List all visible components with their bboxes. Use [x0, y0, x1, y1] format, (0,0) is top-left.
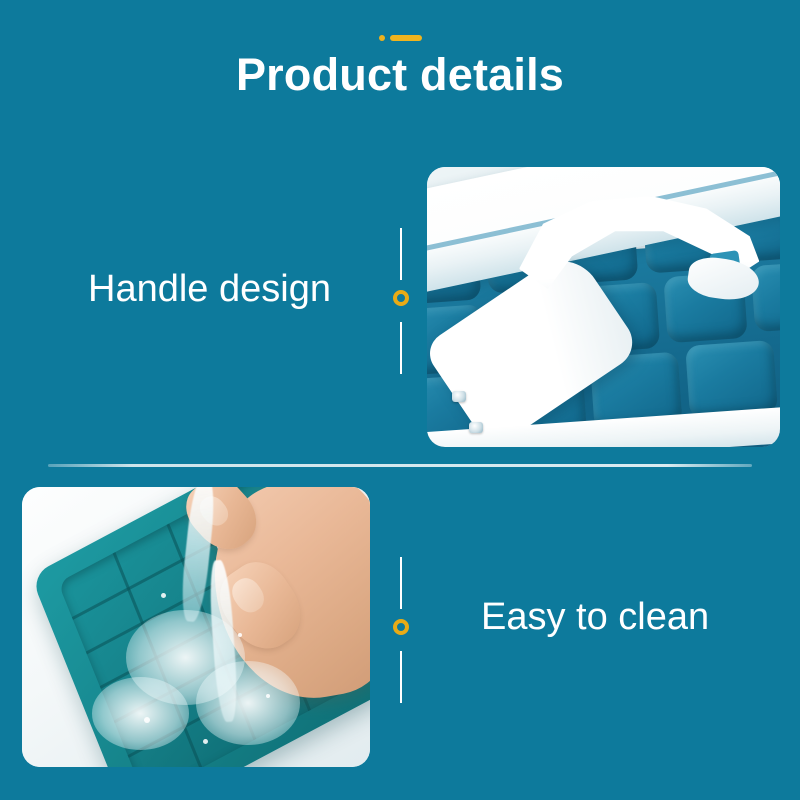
connector-line-upper	[400, 557, 402, 609]
photo-easy-to-clean-content	[22, 487, 370, 767]
page-title: Product details	[0, 46, 800, 104]
photo-handle-design-content	[427, 167, 780, 447]
feature-label-handle-design: Handle design	[88, 266, 331, 312]
handle-hinge-screw	[452, 391, 466, 402]
title-decoration	[0, 32, 800, 44]
connector-line-lower	[400, 651, 402, 703]
connector-line-lower	[400, 322, 402, 374]
water-droplet	[203, 739, 208, 744]
ring-marker-icon	[393, 290, 409, 306]
water-droplet	[144, 717, 150, 723]
feature-label-easy-to-clean: Easy to clean	[481, 594, 709, 640]
water-splash	[196, 661, 300, 745]
tray-handle	[441, 201, 766, 425]
water-splash	[92, 677, 189, 750]
water-droplet	[238, 633, 242, 637]
feature-photo-handle-design	[427, 167, 780, 447]
handle-hinge-screw	[469, 422, 483, 433]
connector-line-upper	[400, 228, 402, 280]
water-droplet	[266, 694, 270, 698]
product-details-page: Product details Handle design	[0, 0, 800, 800]
dot-marker-icon	[379, 35, 385, 41]
connector-easy-to-clean	[390, 557, 412, 703]
feature-photo-easy-to-clean	[22, 487, 370, 767]
bar-marker-icon	[390, 35, 422, 41]
connector-handle-design	[390, 228, 412, 374]
ring-marker-icon	[393, 619, 409, 635]
section-divider	[48, 464, 752, 467]
